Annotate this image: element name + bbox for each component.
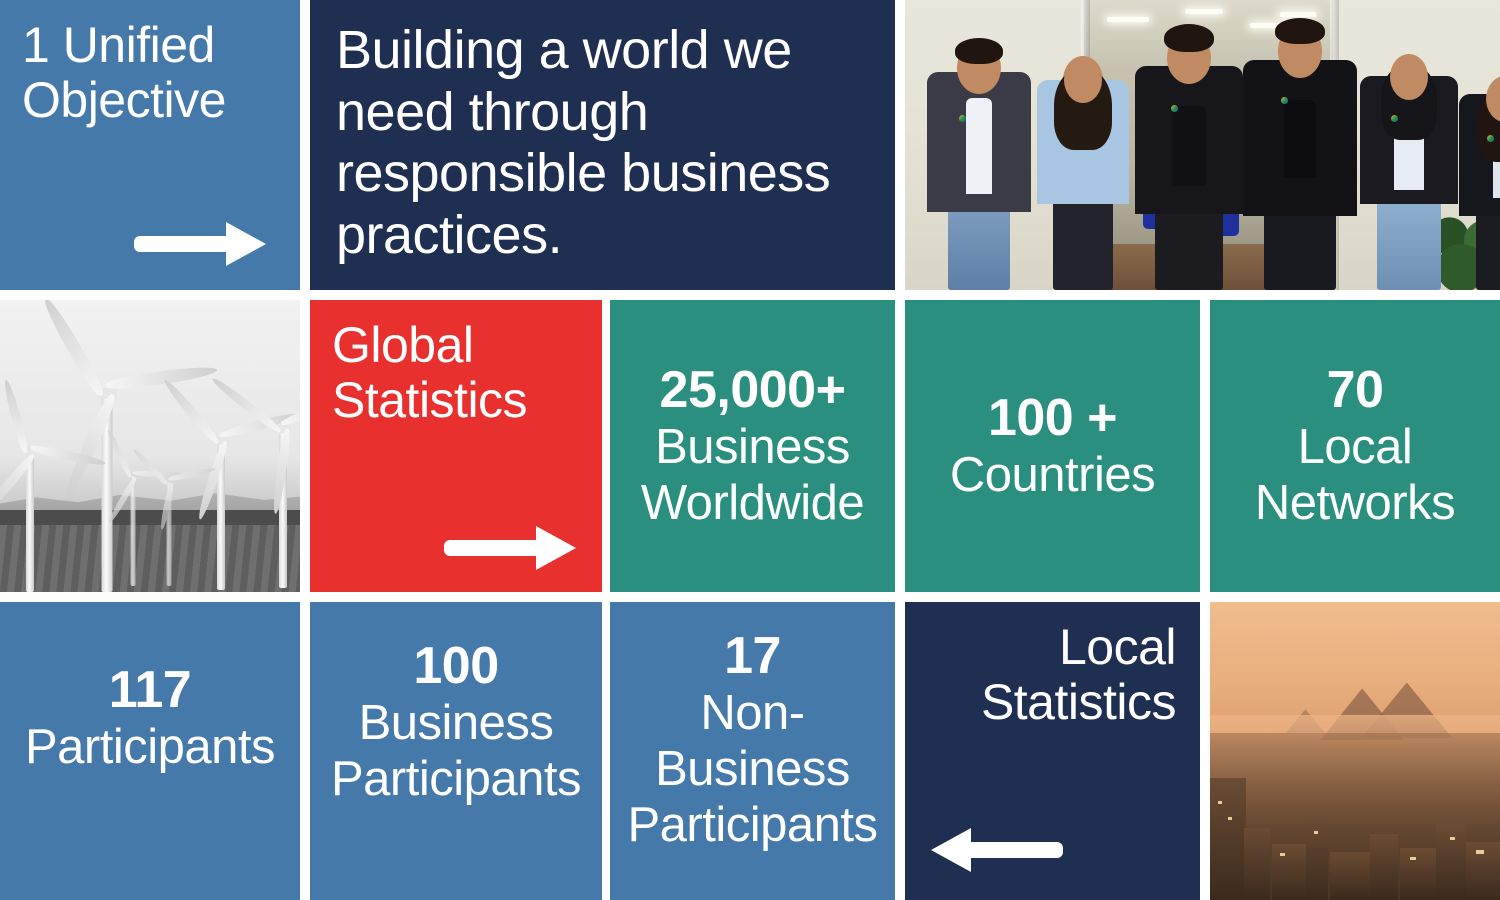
tile-stat-non-business-participants: 17 Non- Business Participants <box>610 602 895 900</box>
stat-label: Local Networks <box>1255 420 1455 532</box>
headline-text: Building a world we need through respons… <box>336 20 869 266</box>
tile-stat-participants: 117 Participants <box>0 602 300 900</box>
arrow-left-icon <box>927 824 1063 876</box>
global-statistics-label: Global Statistics <box>332 318 580 428</box>
person-figure <box>1133 28 1245 290</box>
tile-stat-countries: 100 + Countries <box>905 300 1200 592</box>
stat-label: Non- Business Participants <box>627 686 877 854</box>
tile-wind-photo <box>0 300 300 592</box>
group-photo-image <box>905 0 1500 290</box>
tile-local-statistics[interactable]: Local Statistics <box>905 602 1200 900</box>
stat-number: 100 + <box>988 388 1117 448</box>
stat-label: Countries <box>950 448 1155 504</box>
stat-number: 25,000+ <box>660 360 846 420</box>
unified-objective-label: 1 Unified Objective <box>22 18 278 128</box>
tile-unified-objective[interactable]: 1 Unified Objective <box>0 0 300 290</box>
tile-stat-business-worldwide: 25,000+ Business Worldwide <box>610 300 895 592</box>
arrow-right-icon <box>134 218 270 270</box>
tile-global-statistics[interactable]: Global Statistics <box>310 300 602 592</box>
cairo-cityscape-image <box>1210 602 1500 900</box>
stat-number: 117 <box>109 660 191 720</box>
stat-label: Business Participants <box>331 696 581 808</box>
arrow-right-icon <box>444 522 580 574</box>
tile-team-photo <box>905 0 1500 290</box>
stat-number: 17 <box>724 626 781 686</box>
stat-number: 100 <box>413 636 498 696</box>
tile-stat-local-networks: 70 Local Networks <box>1210 300 1500 592</box>
stat-number: 70 <box>1327 360 1384 420</box>
tile-cairo-photo <box>1210 602 1500 900</box>
wind-turbine-image <box>0 300 300 592</box>
stat-label: Business Worldwide <box>641 420 864 532</box>
tile-headline: Building a world we need through respons… <box>310 0 895 290</box>
person-figure <box>925 40 1033 290</box>
local-statistics-label: Local Statistics <box>981 620 1176 730</box>
person-figure <box>1033 52 1133 290</box>
person-figure <box>1241 22 1359 290</box>
tile-stat-business-participants: 100 Business Participants <box>310 602 602 900</box>
stat-label: Participants <box>25 720 275 776</box>
person-figure <box>1457 64 1500 290</box>
infographic-board: 1 Unified Objective Building a world we … <box>0 0 1500 900</box>
person-figure <box>1357 46 1461 290</box>
